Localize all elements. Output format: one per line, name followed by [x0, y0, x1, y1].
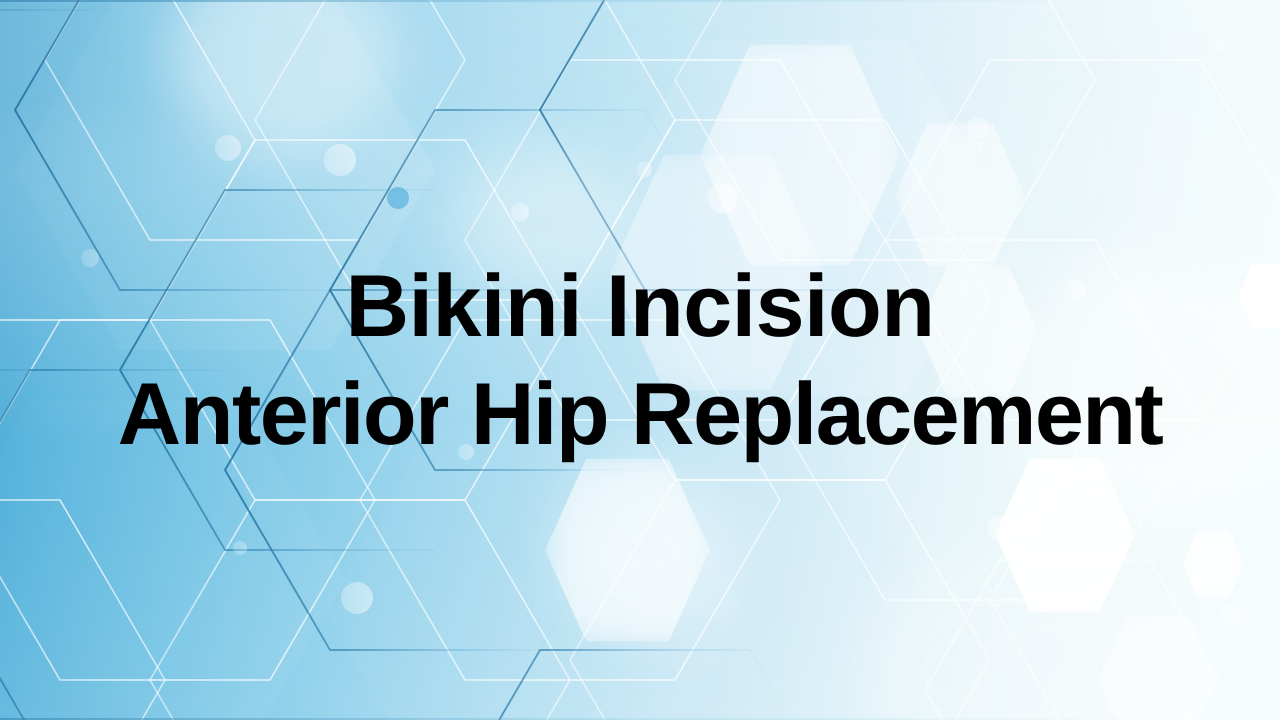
title-block: Bikini Incision Anterior Hip Replacement: [0, 0, 1280, 720]
title-line-2: Anterior Hip Replacement: [118, 360, 1163, 468]
title-slide: Bikini Incision Anterior Hip Replacement: [0, 0, 1280, 720]
title-line-1: Bikini Incision: [345, 252, 934, 360]
